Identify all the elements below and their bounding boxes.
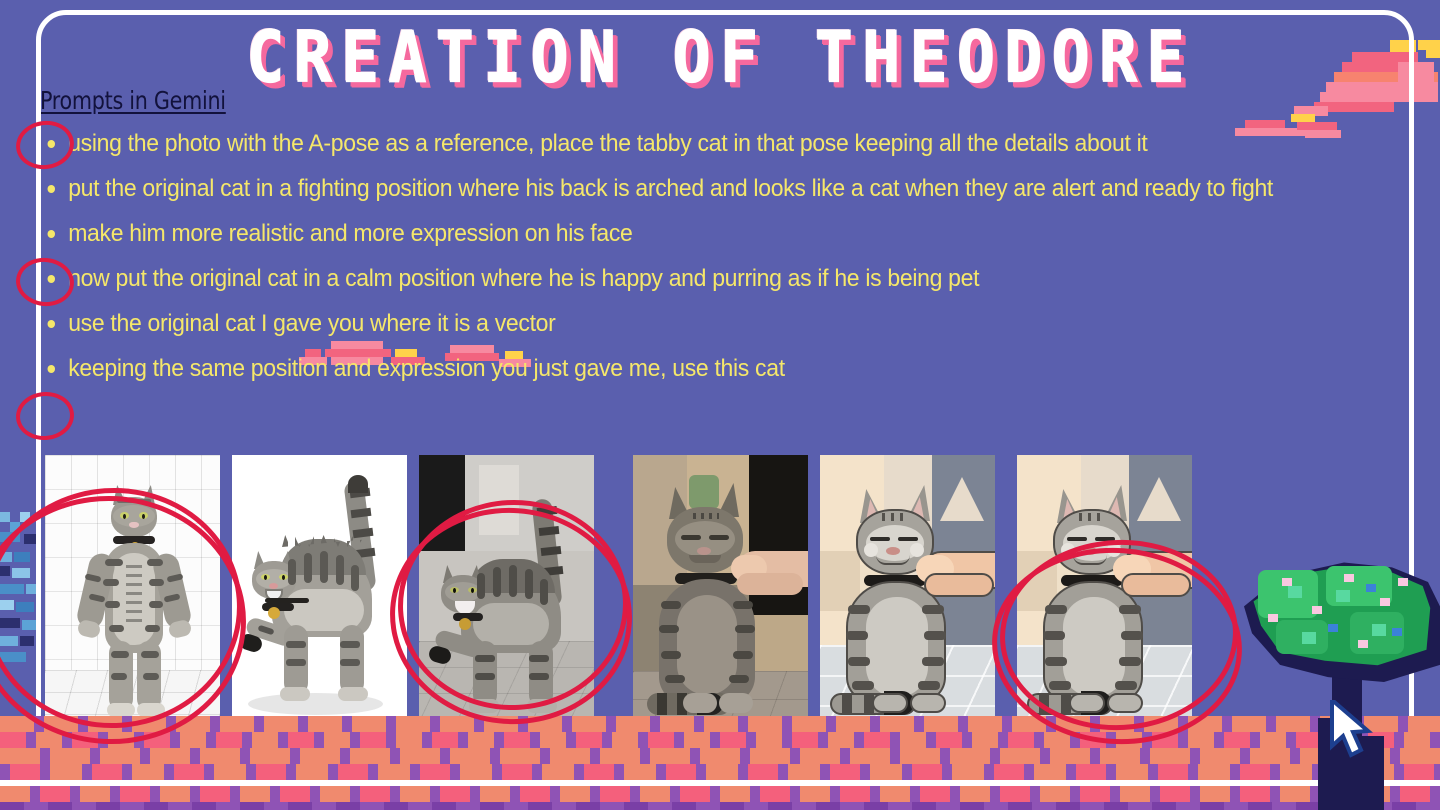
list-item: make him more realistic and more express… (40, 211, 1290, 256)
mouse-cursor-icon (1330, 700, 1376, 765)
brick-row (0, 764, 1440, 780)
brick-row (0, 748, 1440, 764)
prompts-heading: Prompts in Gemini (40, 86, 1264, 115)
brick-row (0, 786, 1440, 802)
prompts-section: Prompts in Gemini using the photo with t… (40, 86, 1370, 391)
list-item: using the photo with the A-pose as a ref… (40, 121, 1290, 166)
brick-row (0, 802, 1440, 810)
prompt-list: using the photo with the A-pose as a ref… (40, 121, 1370, 391)
brick-row (0, 732, 1440, 748)
list-item: now put the original cat in a calm posit… (40, 256, 1290, 301)
slide-title-text: CREATION OF THEODORE (246, 23, 1194, 94)
slide-canvas: CREATION OF THEODORE Prompts in Gemini u… (0, 0, 1440, 810)
brick-row (0, 716, 1440, 732)
list-item: keeping the same position and expression… (40, 346, 1290, 391)
pixel-tree (1240, 528, 1440, 810)
list-item: use the original cat I gave you where it… (40, 301, 1290, 346)
slide-title: CREATION OF THEODORE (0, 28, 1440, 88)
bottom-scenery (0, 690, 1440, 810)
list-item: put the original cat in a fighting posit… (40, 166, 1290, 211)
